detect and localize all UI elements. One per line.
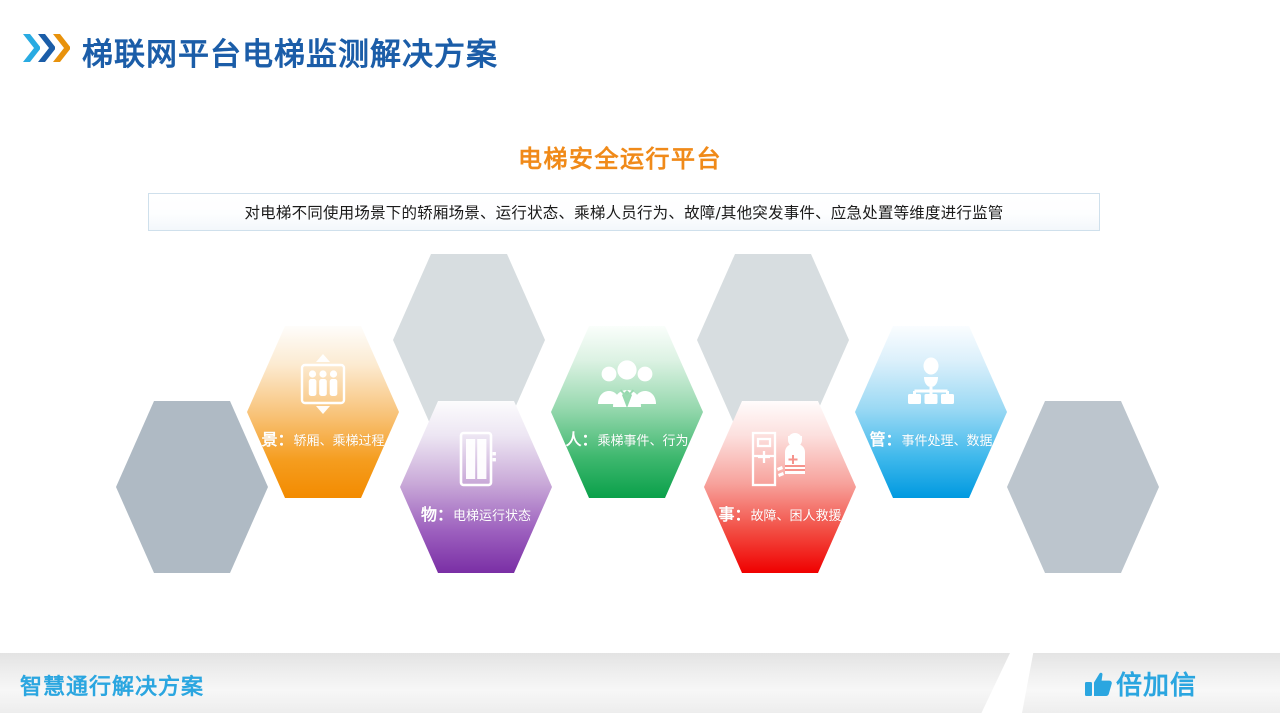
slide-footer: 智慧通行解决方案 倍加信 bbox=[0, 653, 1280, 720]
hex-thing-sep: ： bbox=[437, 505, 453, 524]
footer-left-label: 智慧通行解决方案 bbox=[20, 669, 204, 701]
page-title: 梯联网平台电梯监测解决方案 bbox=[82, 29, 498, 74]
hex-manage-key: 管 bbox=[869, 430, 885, 449]
hexagon-diagram: 景：轿厢、乘梯过程 物：电梯运行状态 bbox=[0, 250, 1280, 590]
hex-scene-sep: ： bbox=[277, 430, 293, 449]
hex-event-label: 事：故障、困人救援 bbox=[710, 505, 850, 526]
hex-event[interactable]: 事：故障、困人救援 bbox=[704, 401, 856, 573]
platform-heading: 电梯安全运行平台 bbox=[0, 139, 1280, 174]
hex-decorative-left bbox=[116, 401, 268, 573]
hex-manage-text: 事件处理、数据 bbox=[902, 434, 993, 449]
hex-decorative-right bbox=[1007, 401, 1159, 573]
elevator-occupants-icon bbox=[247, 348, 399, 420]
hex-scene-label: 景：轿厢、乘梯过程 bbox=[253, 430, 393, 451]
footer-left-band: 智慧通行解决方案 bbox=[0, 653, 1010, 713]
hex-scene-key: 景 bbox=[261, 430, 277, 449]
hex-decorative-upper-2 bbox=[697, 254, 849, 426]
description-text: 对电梯不同使用场景下的轿厢场景、运行状态、乘梯人员行为、故障/其他突发事件、应急… bbox=[244, 201, 1003, 223]
hex-people-sep: ： bbox=[581, 430, 597, 449]
org-chart-icon bbox=[855, 348, 1007, 420]
hex-event-key: 事 bbox=[718, 505, 734, 524]
hex-people[interactable]: 人：乘梯事件、行为 bbox=[551, 326, 703, 498]
hex-manage-label: 管：事件处理、数据 bbox=[861, 430, 1001, 451]
chevron-icon-3 bbox=[52, 33, 70, 63]
hex-thing-key: 物 bbox=[421, 505, 437, 524]
hex-thing-text: 电梯运行状态 bbox=[453, 509, 531, 524]
hex-people-label: 人：乘梯事件、行为 bbox=[557, 430, 697, 451]
hex-event-text: 故障、困人救援 bbox=[751, 509, 842, 524]
hex-scene-text: 轿厢、乘梯过程 bbox=[294, 434, 385, 449]
rescue-stretcher-medic-icon bbox=[704, 423, 856, 495]
platform-heading-text: 电梯安全运行平台 bbox=[518, 139, 722, 174]
hex-decorative-upper-1 bbox=[393, 254, 545, 426]
brand-name: 倍加信 bbox=[1116, 665, 1197, 702]
footer-brand-band: 倍加信 bbox=[1022, 653, 1280, 713]
hex-manage-sep: ： bbox=[885, 430, 901, 449]
chevron-logo-group bbox=[22, 33, 78, 65]
hex-people-text: 乘梯事件、行为 bbox=[598, 434, 689, 449]
thumbs-up-icon bbox=[1084, 670, 1114, 698]
elevator-door-icon bbox=[400, 423, 552, 495]
slide-header: 梯联网平台电梯监测解决方案 bbox=[0, 0, 1280, 100]
hex-thing-label: 物：电梯运行状态 bbox=[406, 505, 546, 526]
hex-manage[interactable]: 管：事件处理、数据 bbox=[855, 326, 1007, 498]
hex-event-sep: ： bbox=[734, 505, 750, 524]
people-group-icon bbox=[551, 348, 703, 420]
hex-people-key: 人 bbox=[565, 430, 581, 449]
brand-logo: 倍加信 bbox=[1084, 665, 1197, 702]
hex-scene[interactable]: 景：轿厢、乘梯过程 bbox=[247, 326, 399, 498]
description-box: 对电梯不同使用场景下的轿厢场景、运行状态、乘梯人员行为、故障/其他突发事件、应急… bbox=[148, 193, 1100, 231]
hex-thing[interactable]: 物：电梯运行状态 bbox=[400, 401, 552, 573]
